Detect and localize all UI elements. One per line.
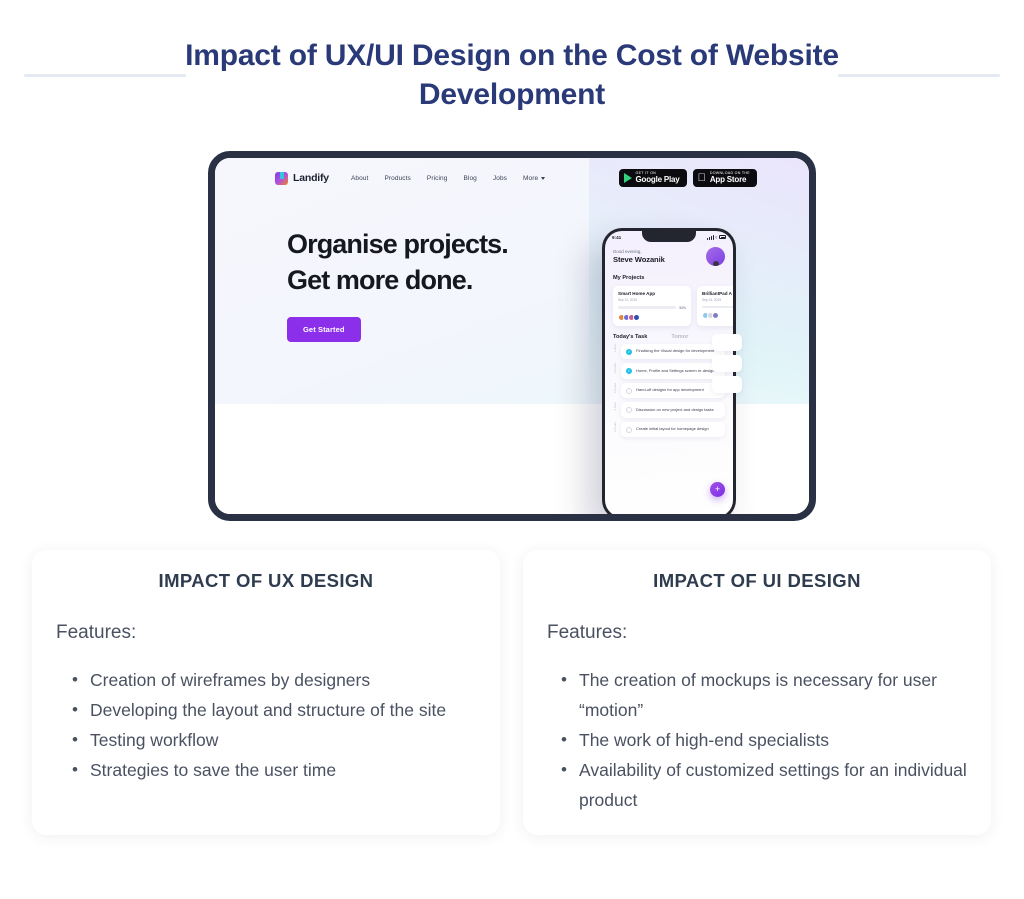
project-name: BrilliantPad A	[702, 291, 733, 296]
project-members	[618, 314, 686, 321]
project-date: Sep 14, 2019	[702, 298, 733, 302]
todays-task-title: Today's Task	[613, 334, 647, 340]
task-checkbox[interactable]	[626, 427, 632, 433]
list-item: The creation of mockups is necessary for…	[561, 665, 991, 725]
greeting-row: Good evening, Steve Wozanik	[613, 247, 725, 266]
task-hour: 2 hours	[613, 363, 617, 377]
ghost-task-card	[712, 376, 742, 393]
infographic-page: Impact of UX/UI Design on the Cost of We…	[0, 0, 1024, 899]
user-name: Steve Wozanik	[613, 255, 665, 264]
task-row[interactable]: 2 hours Home, Profile and Settings scree…	[613, 363, 725, 379]
google-play-badge-main: Google Play	[636, 176, 680, 184]
task-text: Create initial layout for homepage desig…	[636, 426, 709, 431]
device-mockup: Landify About Products Pricing Blog Jobs…	[208, 151, 816, 521]
task-text: Hand-off designs for app development	[636, 387, 704, 392]
nav-link-products[interactable]: Products	[384, 175, 410, 182]
projects-row: Smart Home App Sep 12, 2019 52%	[613, 286, 725, 326]
add-task-fab[interactable]: +	[710, 482, 725, 497]
status-time: 9:41	[612, 235, 621, 240]
task-row[interactable]: 1 hour Discussion on new project and des…	[613, 402, 725, 418]
list-item: Developing the layout and structure of t…	[72, 695, 500, 725]
greeting-subtitle: Good evening,	[613, 249, 665, 254]
nav-link-more[interactable]: More	[523, 175, 545, 182]
nav-link-pricing[interactable]: Pricing	[427, 175, 448, 182]
signal-icon	[707, 235, 713, 240]
app-store-badge-main: App Store	[710, 176, 750, 184]
device-screen: Landify About Products Pricing Blog Jobs…	[215, 158, 809, 514]
nav-link-blog[interactable]: Blog	[463, 175, 476, 182]
card-subtitle: Features:	[547, 622, 991, 644]
task-hour: 2 hours	[613, 383, 617, 397]
card-subtitle: Features:	[56, 622, 500, 644]
task-hour: 2 hours	[613, 422, 617, 436]
card-title: IMPACT OF UI DESIGN	[523, 570, 991, 592]
hero-copy: Organise projects. Get more done. Get St…	[287, 226, 508, 342]
list-item: Testing workflow	[72, 725, 500, 755]
card-ui-design: IMPACT OF UI DESIGN Features: The creati…	[523, 550, 991, 835]
list-item: The work of high-end specialists	[561, 725, 991, 755]
task-row[interactable]: 1 hour Finalising the Visual design for …	[613, 344, 725, 360]
navbar-links: About Products Pricing Blog Jobs More	[351, 175, 545, 182]
hero-headline-line1: Organise projects.	[287, 226, 508, 262]
brand-name: Landify	[293, 172, 329, 184]
project-name: Smart Home App	[618, 291, 686, 296]
my-projects-title: My Projects	[613, 275, 725, 281]
phone-mockup: 9:41 ▿ Good evening, Steve Wozanik	[602, 228, 736, 514]
app-store-badge[interactable]:  Download on the App Store	[693, 169, 757, 188]
google-play-badge[interactable]: GET IT ON Google Play	[619, 169, 687, 188]
title-rule-left	[24, 74, 186, 77]
project-progress: 52%	[618, 306, 686, 310]
phone-notch	[642, 231, 696, 242]
progress-track	[702, 306, 733, 308]
task-checkbox[interactable]	[626, 368, 632, 374]
task-checkbox[interactable]	[626, 349, 632, 355]
task-row[interactable]: 2 hours Create initial layout for homepa…	[613, 422, 725, 438]
card-bullet-list: Creation of wireframes by designers Deve…	[72, 665, 500, 785]
task-checkbox[interactable]	[626, 407, 632, 413]
project-members	[702, 312, 733, 319]
brand-logo[interactable]: Landify	[275, 172, 329, 185]
nav-link-about[interactable]: About	[351, 175, 369, 182]
landify-logo-icon	[275, 172, 288, 185]
page-title: Impact of UX/UI Design on the Cost of We…	[180, 36, 844, 114]
card-ux-design: IMPACT OF UX DESIGN Features: Creation o…	[32, 550, 500, 835]
project-date: Sep 12, 2019	[618, 298, 686, 302]
status-icons: ▿	[707, 235, 726, 240]
task-list: 1 hour Finalising the Visual design for …	[613, 344, 725, 438]
nav-more-label: More	[523, 175, 538, 182]
project-progress	[702, 306, 733, 308]
card-title: IMPACT OF UX DESIGN	[32, 570, 500, 592]
title-rule-right	[838, 74, 1000, 77]
task-text: Finalising the Visual design for develop…	[636, 348, 714, 353]
tomorrow-task-title: Tomor	[671, 334, 688, 340]
task-checkbox[interactable]	[626, 388, 632, 394]
apple-icon: 	[698, 174, 706, 183]
member-avatar	[712, 312, 719, 319]
list-item: Creation of wireframes by designers	[72, 665, 500, 695]
progress-track	[618, 306, 676, 308]
nav-link-jobs[interactable]: Jobs	[493, 175, 507, 182]
task-row[interactable]: 2 hours Hand-off designs for app develop…	[613, 383, 725, 399]
chevron-down-icon	[541, 177, 545, 180]
task-hour: 1 hour	[613, 402, 617, 415]
battery-icon	[719, 235, 726, 238]
tasks-header: Today's Task Tomor	[613, 334, 725, 340]
get-started-button[interactable]: Get Started	[287, 317, 361, 342]
card-bullet-list: The creation of mockups is necessary for…	[561, 665, 991, 815]
tomorrow-task-column	[712, 334, 742, 393]
task-text: Discussion on new project and design tas…	[636, 407, 714, 412]
avatar[interactable]	[706, 247, 725, 266]
task-hour: 1 hour	[613, 344, 617, 357]
project-card[interactable]: Smart Home App Sep 12, 2019 52%	[613, 286, 691, 326]
site-navbar: Landify About Products Pricing Blog Jobs…	[215, 158, 809, 198]
avatar-head-icon	[713, 261, 719, 266]
wifi-icon: ▿	[715, 235, 717, 240]
google-play-icon	[624, 173, 632, 183]
progress-percent: 52%	[679, 306, 686, 310]
title-block: Impact of UX/UI Design on the Cost of We…	[0, 36, 1024, 116]
member-avatar	[633, 314, 640, 321]
ghost-task-card	[712, 334, 742, 351]
list-item: Availability of customized settings for …	[561, 755, 991, 815]
hero-headline-line2: Get more done.	[287, 262, 508, 298]
ghost-task-card	[712, 355, 742, 372]
task-text: Home, Profile and Settings screen re-des…	[636, 368, 714, 373]
project-card[interactable]: BrilliantPad A Sep 14, 2019	[697, 286, 733, 326]
list-item: Strategies to save the user time	[72, 755, 500, 785]
store-badges: GET IT ON Google Play  Download on the …	[619, 169, 757, 188]
